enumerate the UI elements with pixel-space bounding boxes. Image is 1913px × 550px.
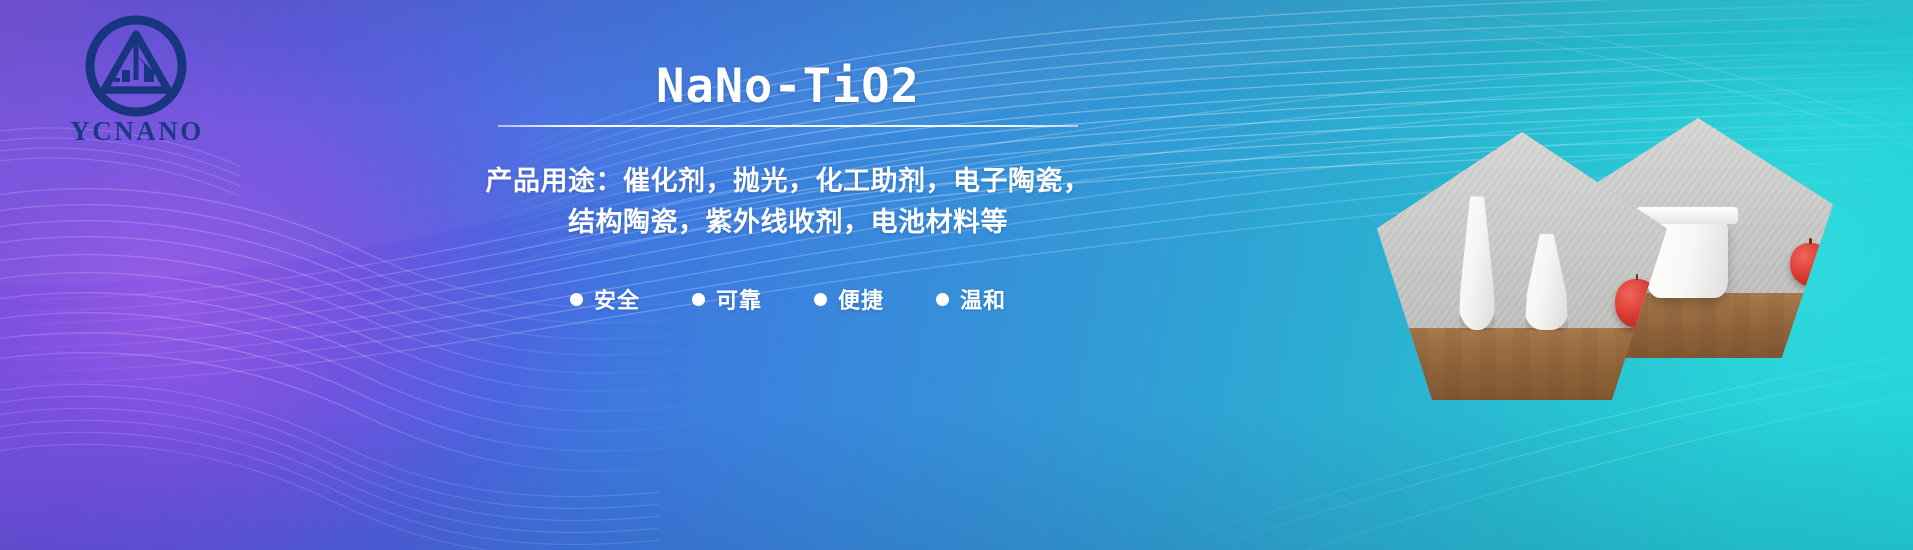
product-banner: YCNANO NaNo-TiO2 产品用途：催化剂，抛光，化工助剂，电子陶瓷， … xyxy=(0,0,1913,550)
banner-content: NaNo-TiO2 产品用途：催化剂，抛光，化工助剂，电子陶瓷， 结构陶瓷，紫外… xyxy=(478,62,1098,315)
feature-label: 便捷 xyxy=(838,283,884,315)
apple-stem xyxy=(1809,238,1811,244)
feature-list: 安全 可靠 便捷 温和 xyxy=(478,283,1098,315)
dot-icon xyxy=(814,293,827,306)
apple-stem xyxy=(1636,274,1639,280)
feature-label: 安全 xyxy=(594,283,640,315)
ycnano-triangle-emblem-icon xyxy=(84,14,188,118)
page-title: NaNo-TiO2 xyxy=(478,62,1098,111)
feature-item-mild: 温和 xyxy=(936,283,1006,315)
feature-item-convenient: 便捷 xyxy=(814,283,884,315)
feature-label: 可靠 xyxy=(716,283,762,315)
feature-item-safe: 安全 xyxy=(570,283,640,315)
dot-icon xyxy=(936,293,949,306)
product-photo-group xyxy=(1361,60,1861,480)
brand-logo[interactable]: YCNANO xyxy=(42,8,232,158)
red-apple-object xyxy=(1790,243,1831,286)
title-divider xyxy=(498,125,1078,127)
dot-icon xyxy=(692,293,705,306)
feature-label: 温和 xyxy=(960,283,1006,315)
usage-line-1: 产品用途：催化剂，抛光，化工助剂，电子陶瓷， xyxy=(478,161,1098,202)
feature-item-reliable: 可靠 xyxy=(692,283,762,315)
brand-wordmark: YCNANO xyxy=(42,116,232,147)
usage-line-2: 结构陶瓷，紫外线收剂，电池材料等 xyxy=(478,202,1098,243)
photo-wood-floor xyxy=(1377,328,1667,400)
product-usage-text: 产品用途：催化剂，抛光，化工助剂，电子陶瓷， 结构陶瓷，紫外线收剂，电池材料等 xyxy=(478,161,1098,243)
dot-icon xyxy=(570,293,583,306)
